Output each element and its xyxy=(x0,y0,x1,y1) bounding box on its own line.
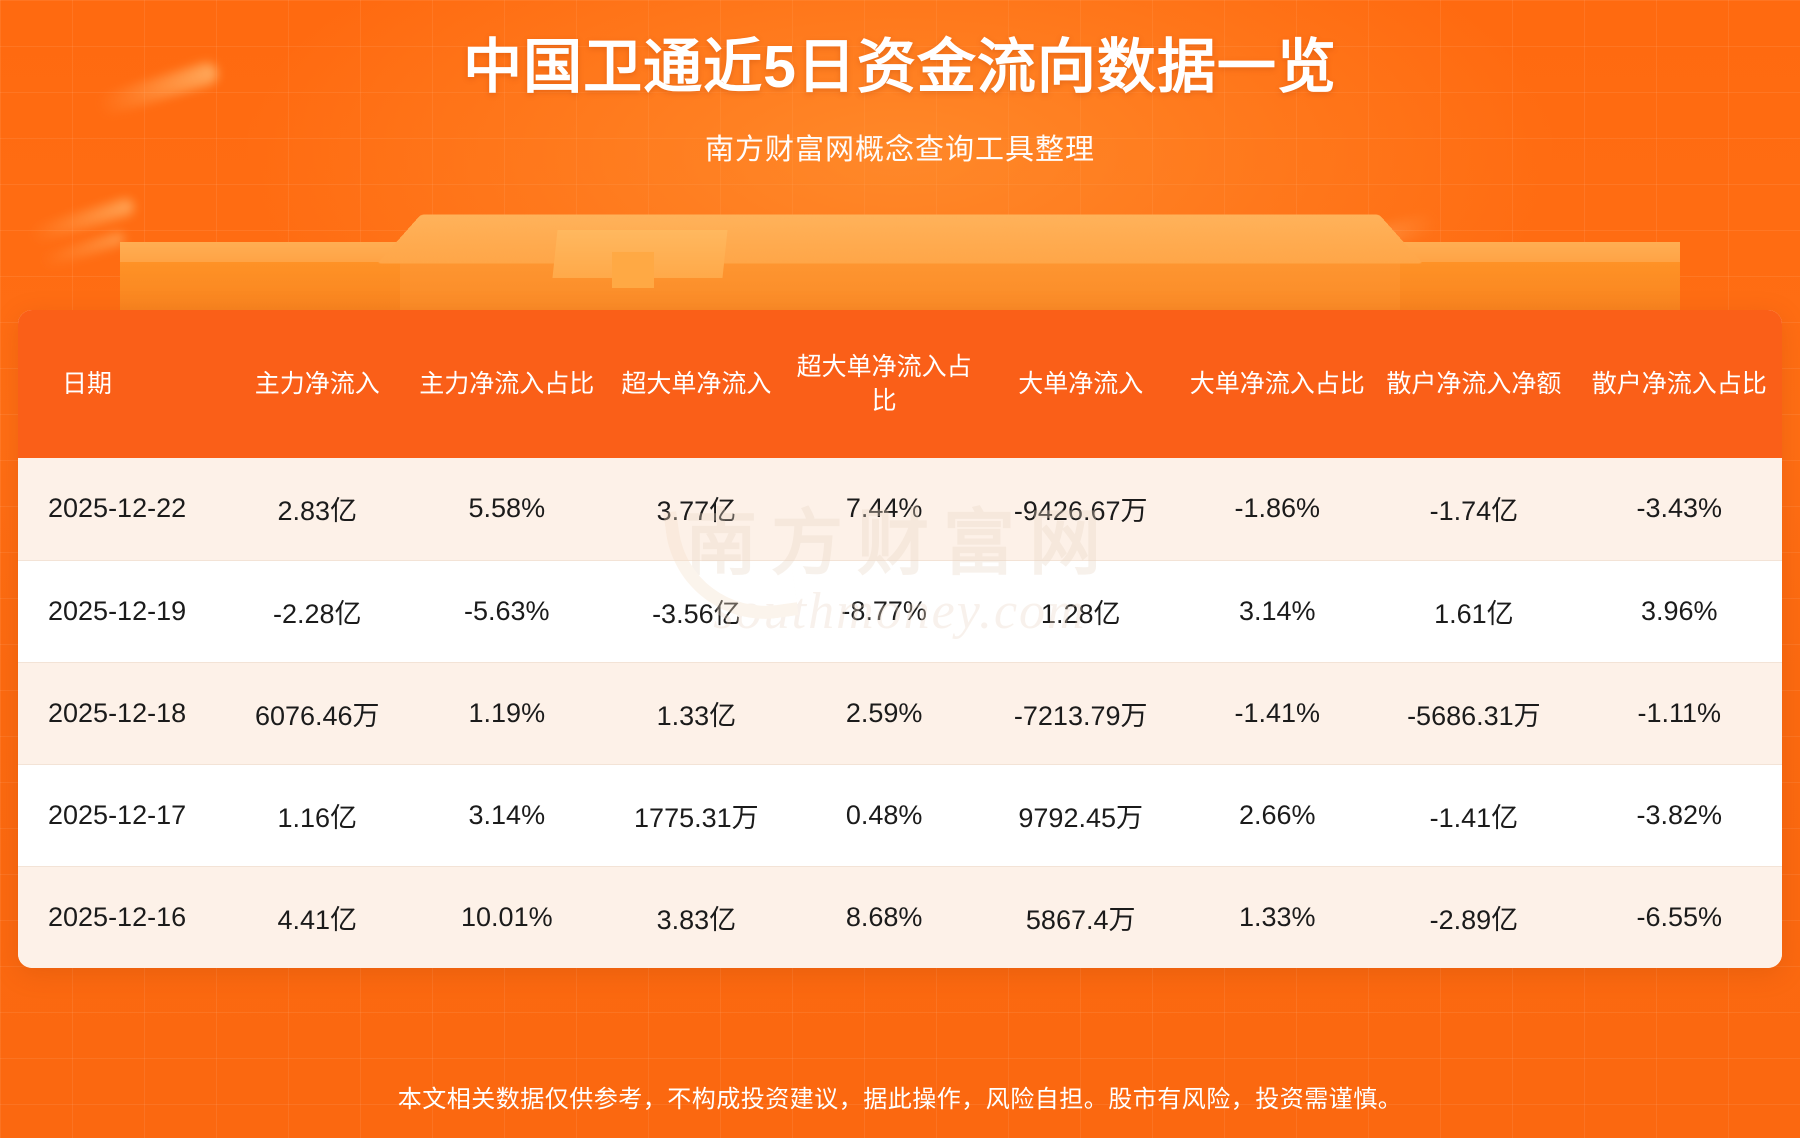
cell-large-net: -9426.67万 xyxy=(978,458,1183,560)
column-header-xl-net: 超大单净流入 xyxy=(602,310,790,458)
fund-flow-table: 日期 主力净流入 主力净流入占比 超大单净流入 超大单净流入占比 大单净流入 大… xyxy=(18,310,1782,968)
cell-retail-net: 1.61亿 xyxy=(1371,560,1576,662)
cell-retail-net: -5686.31万 xyxy=(1371,662,1576,764)
cell-xl-net-pct: -8.77% xyxy=(790,560,978,662)
cell-main-net: 2.83亿 xyxy=(223,458,411,560)
cell-xl-net-pct: 8.68% xyxy=(790,866,978,968)
cell-large-net-pct: 3.14% xyxy=(1183,560,1371,662)
cell-date: 2025-12-16 xyxy=(18,866,223,968)
podium-block-nub xyxy=(612,252,654,288)
header-block: 中国卫通近5日资金流向数据一览 南方财富网概念查询工具整理 xyxy=(0,34,1800,168)
column-header-retail-net-pct: 散户净流入占比 xyxy=(1577,310,1782,458)
cell-retail-net: -1.74亿 xyxy=(1371,458,1576,560)
cell-retail-net-pct: -6.55% xyxy=(1577,866,1782,968)
cell-main-net: 1.16亿 xyxy=(223,764,411,866)
footer-disclaimer: 本文相关数据仅供参考，不构成投资建议，据此操作，风险自担。股市有风险，投资需谨慎… xyxy=(0,1054,1800,1138)
column-header-main-net-pct: 主力净流入占比 xyxy=(411,310,602,458)
cell-xl-net: 3.77亿 xyxy=(602,458,790,560)
cell-xl-net: -3.56亿 xyxy=(602,560,790,662)
cell-main-net: 4.41亿 xyxy=(223,866,411,968)
cell-large-net-pct: -1.86% xyxy=(1183,458,1371,560)
cell-date: 2025-12-17 xyxy=(18,764,223,866)
column-header-retail-net: 散户净流入净额 xyxy=(1371,310,1576,458)
table-header: 日期 主力净流入 主力净流入占比 超大单净流入 超大单净流入占比 大单净流入 大… xyxy=(18,310,1782,458)
cell-xl-net: 1775.31万 xyxy=(602,764,790,866)
page-title: 中国卫通近5日资金流向数据一览 xyxy=(0,34,1800,102)
cell-large-net-pct: 2.66% xyxy=(1183,764,1371,866)
cell-main-net-pct: 5.58% xyxy=(411,458,602,560)
data-table-card: 日期 主力净流入 主力净流入占比 超大单净流入 超大单净流入占比 大单净流入 大… xyxy=(18,310,1782,968)
cell-date: 2025-12-18 xyxy=(18,662,223,764)
table-row: 2025-12-17 1.16亿 3.14% 1775.31万 0.48% 97… xyxy=(18,764,1782,866)
cell-retail-net-pct: -3.82% xyxy=(1577,764,1782,866)
table-body: 2025-12-22 2.83亿 5.58% 3.77亿 7.44% -9426… xyxy=(18,458,1782,968)
cell-xl-net-pct: 7.44% xyxy=(790,458,978,560)
table-header-row: 日期 主力净流入 主力净流入占比 超大单净流入 超大单净流入占比 大单净流入 大… xyxy=(18,310,1782,458)
cell-main-net-pct: 3.14% xyxy=(411,764,602,866)
cell-large-net: 5867.4万 xyxy=(978,866,1183,968)
cell-date: 2025-12-19 xyxy=(18,560,223,662)
table-row: 2025-12-19 -2.28亿 -5.63% -3.56亿 -8.77% 1… xyxy=(18,560,1782,662)
cell-date: 2025-12-22 xyxy=(18,458,223,560)
podium-block-center-top xyxy=(377,215,1422,264)
cell-retail-net: -2.89亿 xyxy=(1371,866,1576,968)
column-header-date: 日期 xyxy=(18,310,223,458)
cell-large-net: -7213.79万 xyxy=(978,662,1183,764)
column-header-large-net: 大单净流入 xyxy=(978,310,1183,458)
cell-main-net: 6076.46万 xyxy=(223,662,411,764)
cell-xl-net: 1.33亿 xyxy=(602,662,790,764)
cell-main-net: -2.28亿 xyxy=(223,560,411,662)
column-header-xl-net-pct: 超大单净流入占比 xyxy=(790,310,978,458)
column-header-main-net: 主力净流入 xyxy=(223,310,411,458)
cell-main-net-pct: 1.19% xyxy=(411,662,602,764)
cell-large-net: 9792.45万 xyxy=(978,764,1183,866)
cell-large-net: 1.28亿 xyxy=(978,560,1183,662)
cell-retail-net: -1.41亿 xyxy=(1371,764,1576,866)
disclaimer-text: 本文相关数据仅供参考，不构成投资建议，据此操作，风险自担。股市有风险，投资需谨慎… xyxy=(398,1079,1403,1114)
page-subtitle: 南方财富网概念查询工具整理 xyxy=(0,126,1800,168)
cell-xl-net: 3.83亿 xyxy=(602,866,790,968)
cell-retail-net-pct: 3.96% xyxy=(1577,560,1782,662)
table-row: 2025-12-18 6076.46万 1.19% 1.33亿 2.59% -7… xyxy=(18,662,1782,764)
cell-retail-net-pct: -1.11% xyxy=(1577,662,1782,764)
cell-main-net-pct: -5.63% xyxy=(411,560,602,662)
table-row: 2025-12-22 2.83亿 5.58% 3.77亿 7.44% -9426… xyxy=(18,458,1782,560)
table-row: 2025-12-16 4.41亿 10.01% 3.83亿 8.68% 5867… xyxy=(18,866,1782,968)
cell-retail-net-pct: -3.43% xyxy=(1577,458,1782,560)
cell-main-net-pct: 10.01% xyxy=(411,866,602,968)
cell-large-net-pct: 1.33% xyxy=(1183,866,1371,968)
cell-xl-net-pct: 2.59% xyxy=(790,662,978,764)
cell-large-net-pct: -1.41% xyxy=(1183,662,1371,764)
column-header-large-net-pct: 大单净流入占比 xyxy=(1183,310,1371,458)
cell-xl-net-pct: 0.48% xyxy=(790,764,978,866)
